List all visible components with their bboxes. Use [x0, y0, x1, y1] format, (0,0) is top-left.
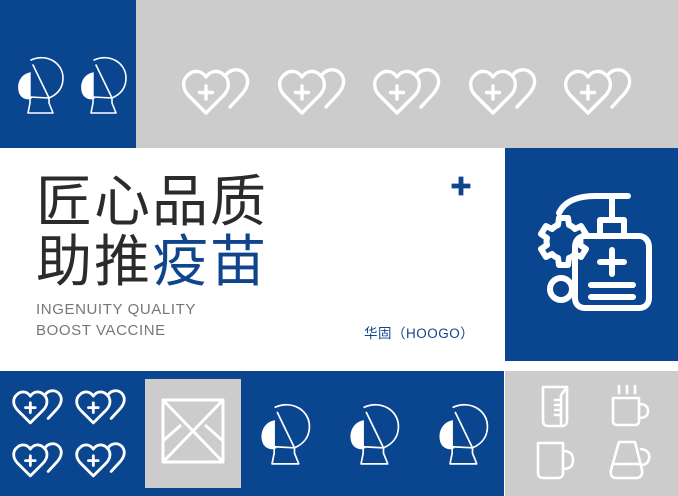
- headline-line-2-blue: 疫苗: [152, 230, 268, 293]
- top-mask-icon-row: [10, 46, 136, 126]
- subtitle-line-2: BOOST VACCINE: [36, 321, 196, 342]
- masked-face-icon: [13, 51, 71, 121]
- mug-icon: [532, 439, 578, 481]
- masked-face-icon: [434, 397, 496, 473]
- headline-line-2-black: 助推: [36, 230, 152, 293]
- plus-cross-icon: [450, 175, 472, 197]
- double-heart-plus-icon: [74, 386, 132, 430]
- kettle-icon: [605, 438, 653, 482]
- gear-icon: [541, 218, 586, 265]
- headline-line-1: 匠心品质: [36, 172, 268, 232]
- bottom-mask-icon-row: [256, 392, 496, 478]
- brand-label: 华固（HOOGO）: [364, 322, 474, 342]
- double-heart-plus-icon: [11, 386, 69, 430]
- poster-canvas: 匠心品质 助推疫苗 INGENUITY QUALITY BOOST VACCIN…: [0, 0, 678, 496]
- hand-sanitizer-bottle-icon: [525, 190, 658, 318]
- bottom-heart-icon-grid: [8, 381, 134, 487]
- double-heart-plus-icon: [180, 65, 258, 121]
- bottom-container-icon-grid: [518, 379, 666, 487]
- crossed-box-placeholder-icon: [161, 397, 225, 465]
- double-heart-plus-icon: [562, 65, 640, 121]
- headline-block: 匠心品质 助推疫苗: [36, 172, 268, 292]
- steaming-cup-icon: [606, 383, 652, 429]
- subtitle-block: INGENUITY QUALITY BOOST VACCINE: [36, 300, 196, 341]
- masked-face-icon: [345, 397, 407, 473]
- top-heart-icon-row: [150, 62, 670, 124]
- double-heart-plus-icon: [74, 439, 132, 483]
- dot-circle-icon: [550, 278, 572, 300]
- masked-face-icon: [76, 51, 134, 121]
- double-heart-plus-icon: [276, 65, 354, 121]
- double-heart-plus-icon: [371, 65, 449, 121]
- subtitle-line-1: INGENUITY QUALITY: [36, 300, 196, 321]
- double-heart-plus-icon: [11, 439, 69, 483]
- beaker-icon: [534, 383, 576, 429]
- masked-face-icon: [256, 397, 318, 473]
- double-heart-plus-icon: [467, 65, 545, 121]
- headline-line-2: 助推疫苗: [36, 232, 268, 292]
